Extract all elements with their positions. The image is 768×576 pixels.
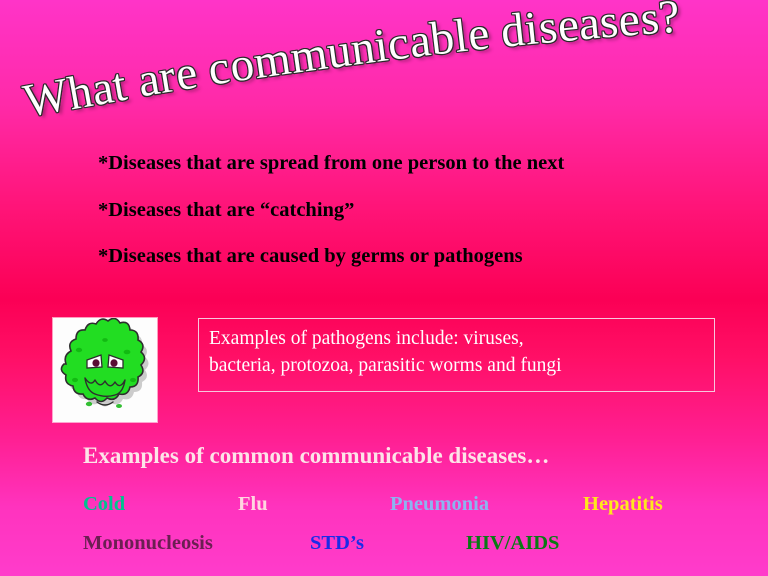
title-letter: h — [64, 64, 97, 121]
title-letter: W — [19, 68, 73, 129]
title-letter: e — [555, 0, 581, 53]
bullet-list: *Diseases that are spread from one perso… — [98, 153, 738, 293]
title-letter: c — [205, 40, 234, 97]
bullet-item: *Diseases that are spread from one perso… — [98, 153, 738, 174]
title-letter: s — [638, 0, 661, 46]
bullet-item: *Diseases that are “catching” — [98, 200, 738, 221]
title-letter — [122, 55, 143, 110]
title-letter: o — [226, 37, 258, 94]
examples-heading: Examples of common communicable diseases… — [83, 443, 549, 469]
pathogen-line: Examples of pathogens include: viruses, — [209, 326, 714, 353]
title-letter: a — [134, 52, 164, 109]
title-letter: u — [323, 23, 354, 80]
title-letter: a — [87, 60, 117, 117]
title-letter: e — [465, 6, 492, 62]
pathogen-line: bacteria, protozoa, parasitic worms and … — [209, 353, 714, 380]
title-letter: c — [385, 16, 413, 72]
title-letter: i — [522, 1, 541, 56]
title-letter: s — [536, 0, 560, 55]
disease-label: Cold — [83, 494, 125, 515]
title-letter: d — [498, 3, 528, 59]
title-letter: a — [406, 13, 434, 69]
disease-label: Hepatitis — [583, 494, 663, 515]
disease-row-1: ColdFluPneumoniaHepatitis — [0, 494, 768, 524]
title-letter: m — [250, 31, 294, 90]
pathogen-examples-textbox: Examples of pathogens include: viruses, … — [198, 318, 715, 392]
title-letter: a — [576, 0, 602, 51]
title-letter: l — [451, 9, 471, 64]
title-letter: ? — [657, 0, 682, 45]
title-letter: b — [427, 10, 457, 66]
germ-icon — [53, 318, 157, 422]
slide-title-text: What are communicable diseases? — [21, 0, 746, 128]
title-letter: m — [287, 26, 331, 85]
title-letter: i — [371, 18, 391, 73]
title-letter: r — [155, 49, 180, 105]
title-letter: t — [109, 58, 132, 114]
title-letter: e — [171, 45, 201, 102]
slide-title-wordart: What are communicable diseases? — [18, 40, 750, 150]
title-letter — [193, 43, 213, 98]
slide-canvas: What are communicable diseases? *Disease… — [0, 0, 768, 576]
title-letter: s — [598, 0, 621, 50]
disease-label: Mononucleosis — [83, 533, 213, 554]
disease-label: STD’s — [310, 533, 364, 554]
germ-image-frame — [53, 318, 157, 422]
disease-label: Pneumonia — [390, 494, 489, 515]
title-letter: e — [617, 0, 643, 48]
disease-label: Flu — [238, 494, 268, 515]
disease-row-2: MononucleosisSTD’sHIV/AIDS — [0, 533, 768, 563]
title-letter — [486, 5, 504, 60]
title-letter: n — [347, 20, 378, 77]
disease-label: HIV/AIDS — [466, 533, 559, 554]
bullet-item: *Diseases that are caused by germs or pa… — [98, 246, 738, 267]
